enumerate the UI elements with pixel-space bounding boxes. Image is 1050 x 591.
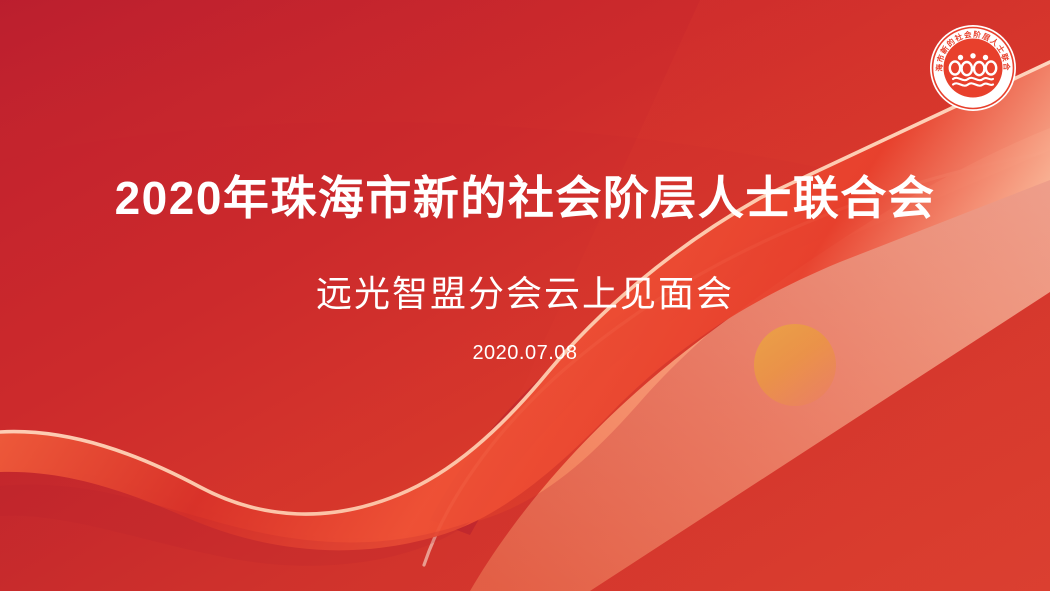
organization-logo-icon: 珠海市新的社会阶层人士联合会 ZHUHAI XIN DE SHEHUI JIEC… — [929, 24, 1017, 112]
page-title: 2020年珠海市新的社会阶层人士联合会 — [0, 172, 1050, 225]
slide-text-layer: 2020年珠海市新的社会阶层人士联合会 远光智盟分会云上见面会 2020.07.… — [0, 0, 1050, 591]
page-subtitle: 远光智盟分会云上见面会 — [0, 272, 1050, 315]
event-date: 2020.07.08 — [0, 342, 1050, 365]
presentation-slide: 2020年珠海市新的社会阶层人士联合会 远光智盟分会云上见面会 2020.07.… — [0, 0, 1050, 591]
